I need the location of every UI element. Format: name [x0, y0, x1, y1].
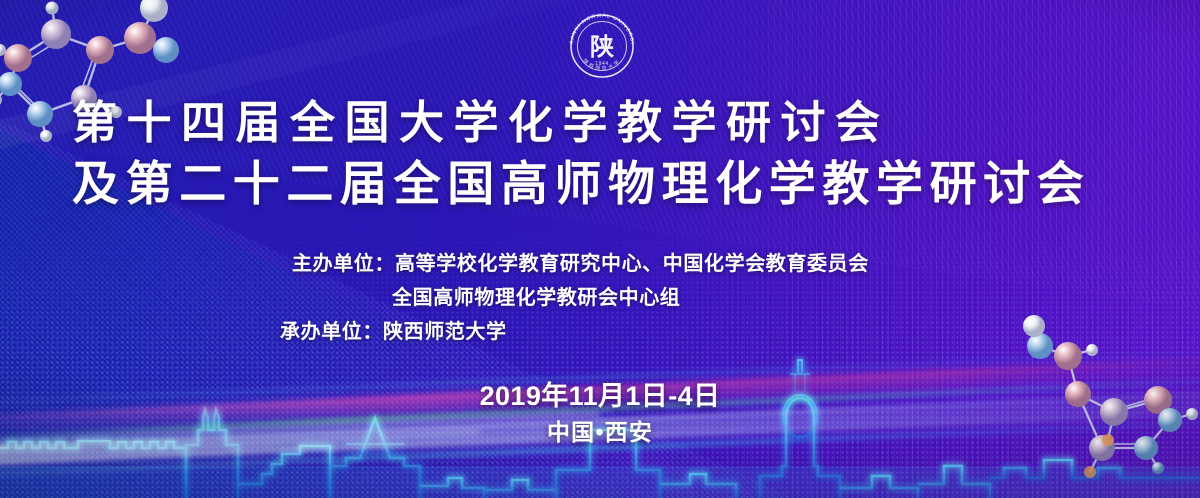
conference-location: 中国•西安: [0, 413, 1200, 447]
organizer-line-1: 主办单位：高等学校化学教育研究中心、中国化学会教育委员会: [292, 247, 869, 276]
organizer-line-2: 全国高师物理化学教研会中心组: [392, 281, 680, 310]
conference-date: 2019年11月1日-4日: [0, 374, 1200, 413]
conference-title-line-1: 第十四届全国大学化学教学研讨会: [72, 100, 890, 145]
logo-year: 1944: [595, 61, 609, 67]
conference-banner: SHAANXI NORMAL UNIVERSITY 陕西师范大学 陕 1944 …: [0, 0, 1200, 498]
benzene-molecule-icon: [0, 0, 238, 176]
shaanxi-normal-university-logo: SHAANXI NORMAL UNIVERSITY 陕西师范大学 陕 1944: [562, 6, 642, 86]
host-organization-line: 承办单位：陕西师范大学: [280, 315, 507, 344]
conference-title-line-2: 及第二十二届全国高师物理化学教学研讨会: [72, 160, 1090, 207]
logo-center-glyph: 陕: [590, 33, 614, 61]
